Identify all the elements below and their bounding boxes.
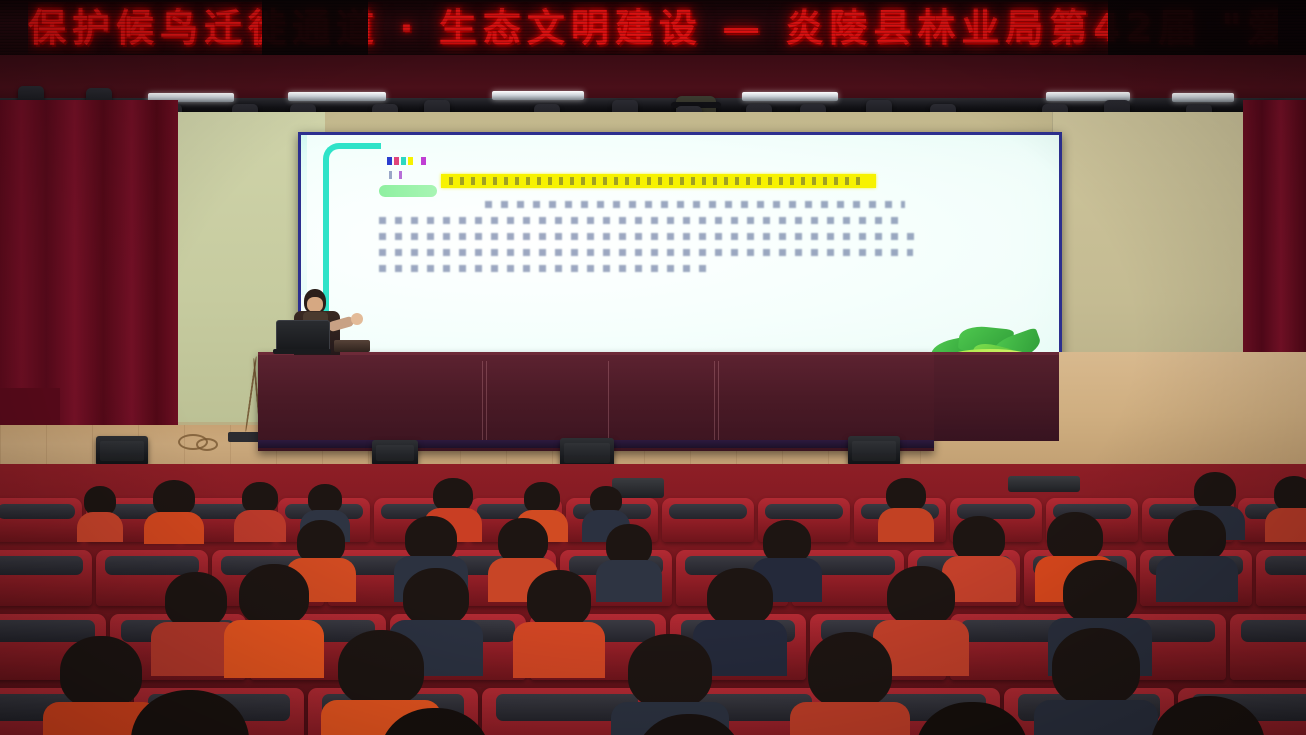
person-head	[707, 568, 773, 626]
stage-curtain-left	[0, 100, 178, 430]
table-seam	[714, 361, 715, 445]
person-torso	[224, 620, 324, 678]
person-head	[165, 572, 227, 628]
table-seam	[608, 361, 609, 445]
slide-small-marks-icon	[389, 171, 402, 179]
slide-text-line	[379, 265, 709, 272]
person-head	[153, 480, 195, 516]
person-head	[886, 478, 926, 512]
banner-occluder-left	[262, 0, 368, 58]
table-seam	[486, 361, 487, 445]
audience-member	[1162, 510, 1232, 598]
stage-floor-junction-box	[228, 432, 262, 442]
person-head	[1063, 560, 1137, 624]
audience-member	[520, 570, 598, 674]
person-torso	[790, 702, 910, 735]
person-torso	[596, 560, 662, 602]
seat	[662, 498, 754, 542]
person-head	[1151, 696, 1265, 735]
presenter-face	[307, 297, 323, 312]
person-head	[527, 570, 591, 628]
stage-monitor-speaker	[848, 436, 900, 466]
audience-member	[158, 572, 234, 672]
laptop-lid	[276, 320, 330, 352]
person-head	[808, 632, 892, 708]
laptop-base	[273, 349, 331, 354]
seat	[1230, 614, 1306, 680]
person-torso	[144, 512, 204, 544]
bar-light	[1172, 93, 1234, 102]
audience-member-foreground	[896, 702, 1048, 735]
table-seam	[482, 361, 483, 445]
seat	[0, 550, 92, 606]
slide-text-line	[379, 249, 913, 256]
person-head	[1194, 472, 1236, 510]
seat	[0, 498, 82, 542]
person-head	[636, 714, 742, 735]
slide-text-line	[379, 217, 899, 224]
person-head	[338, 630, 424, 706]
person-head	[433, 478, 473, 512]
audience-member	[146, 480, 202, 540]
audience-member-foreground	[360, 708, 510, 735]
slide-text-line	[379, 233, 919, 240]
stage-monitor-speaker	[96, 436, 148, 466]
slide-text-line	[485, 201, 905, 208]
person-head	[1047, 512, 1103, 562]
person-head	[380, 708, 490, 735]
person-torso	[1265, 508, 1306, 542]
audience-member	[600, 524, 658, 598]
audience-member	[880, 478, 932, 540]
slide-body-text	[379, 201, 939, 281]
slide-green-badge	[379, 185, 437, 197]
audience-member	[78, 486, 122, 538]
audience-member-foreground	[110, 690, 270, 735]
person-head	[1052, 628, 1140, 706]
person-torso	[234, 510, 286, 542]
seat	[1256, 550, 1306, 606]
person-head	[131, 690, 249, 735]
table-seam	[718, 361, 719, 445]
person-head	[239, 564, 309, 626]
person-head	[1274, 476, 1306, 512]
person-head	[887, 566, 955, 626]
audience-member	[232, 564, 316, 674]
person-head	[916, 702, 1028, 735]
person-head	[1168, 510, 1226, 562]
person-torso	[878, 508, 934, 542]
stage-monitor-speaker	[372, 440, 418, 466]
person-torso	[77, 512, 123, 542]
audience-member	[1268, 476, 1306, 540]
projection-screen	[301, 135, 1059, 367]
stage-table-right	[934, 352, 1059, 441]
slide-highlight-heading	[441, 174, 876, 188]
slide-color-blocks-icon	[387, 157, 426, 165]
presenter-laptop	[276, 320, 328, 354]
audience-member-foreground	[1130, 696, 1286, 735]
person-head	[628, 634, 712, 708]
led-banner-text: 保护候鸟迁徙通道 · 生态文明建设 — 炎陵县林业局第42届 "爱	[28, 2, 1278, 54]
audience-member-foreground	[616, 714, 762, 735]
desk-papers	[334, 340, 370, 352]
bar-light	[288, 92, 386, 101]
audience-member	[236, 482, 284, 540]
audience-area	[0, 464, 1306, 735]
stage-table	[258, 352, 934, 451]
equipment-case	[1008, 476, 1080, 492]
person-torso	[513, 622, 605, 678]
audience-member	[800, 632, 900, 735]
person-torso	[1156, 556, 1238, 602]
cable-coil	[196, 438, 218, 451]
led-banner: 保护候鸟迁徙通道 · 生态文明建设 — 炎陵县林业局第42届 "爱	[0, 0, 1306, 58]
bar-light	[492, 91, 584, 100]
projection-screen-frame	[298, 132, 1062, 370]
presenter-hand	[351, 313, 363, 325]
banner-occluder-right	[1108, 0, 1306, 58]
auditorium-scene: 保护候鸟迁徙通道 · 生态文明建设 — 炎陵县林业局第42届 "爱	[0, 0, 1306, 735]
person-head	[403, 568, 469, 626]
bar-light	[742, 92, 838, 101]
